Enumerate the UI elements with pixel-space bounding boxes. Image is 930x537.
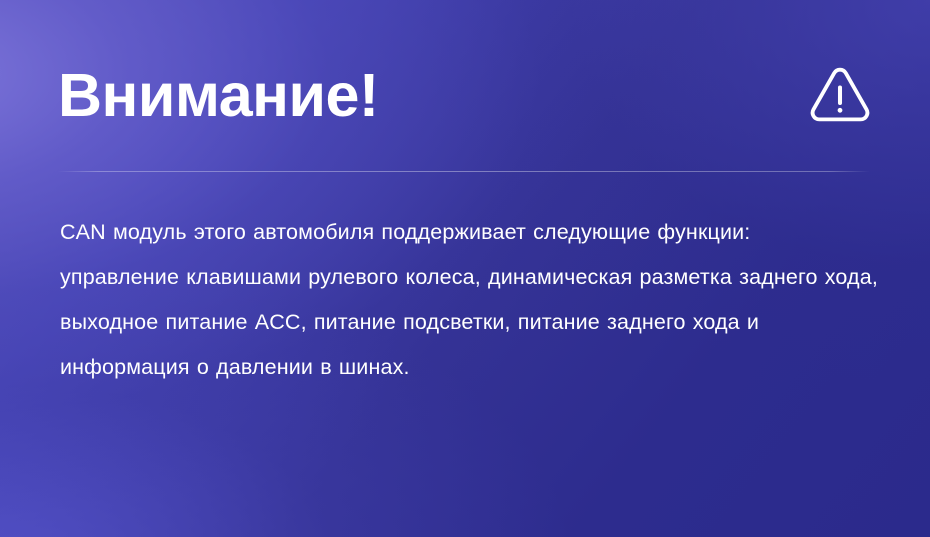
warning-banner: Внимание! CAN модуль этого автомобиля по… bbox=[0, 0, 930, 537]
page-title: Внимание! bbox=[58, 65, 379, 126]
banner-header: Внимание! bbox=[58, 52, 878, 138]
body-paragraph-functions: управление клавишами рулевого колеса, ди… bbox=[60, 255, 880, 390]
header-divider bbox=[58, 171, 870, 172]
warning-triangle-icon bbox=[806, 61, 874, 129]
banner-body: CAN модуль этого автомобиля поддерживает… bbox=[60, 210, 880, 390]
body-paragraph-intro: CAN модуль этого автомобиля поддерживает… bbox=[60, 210, 880, 255]
